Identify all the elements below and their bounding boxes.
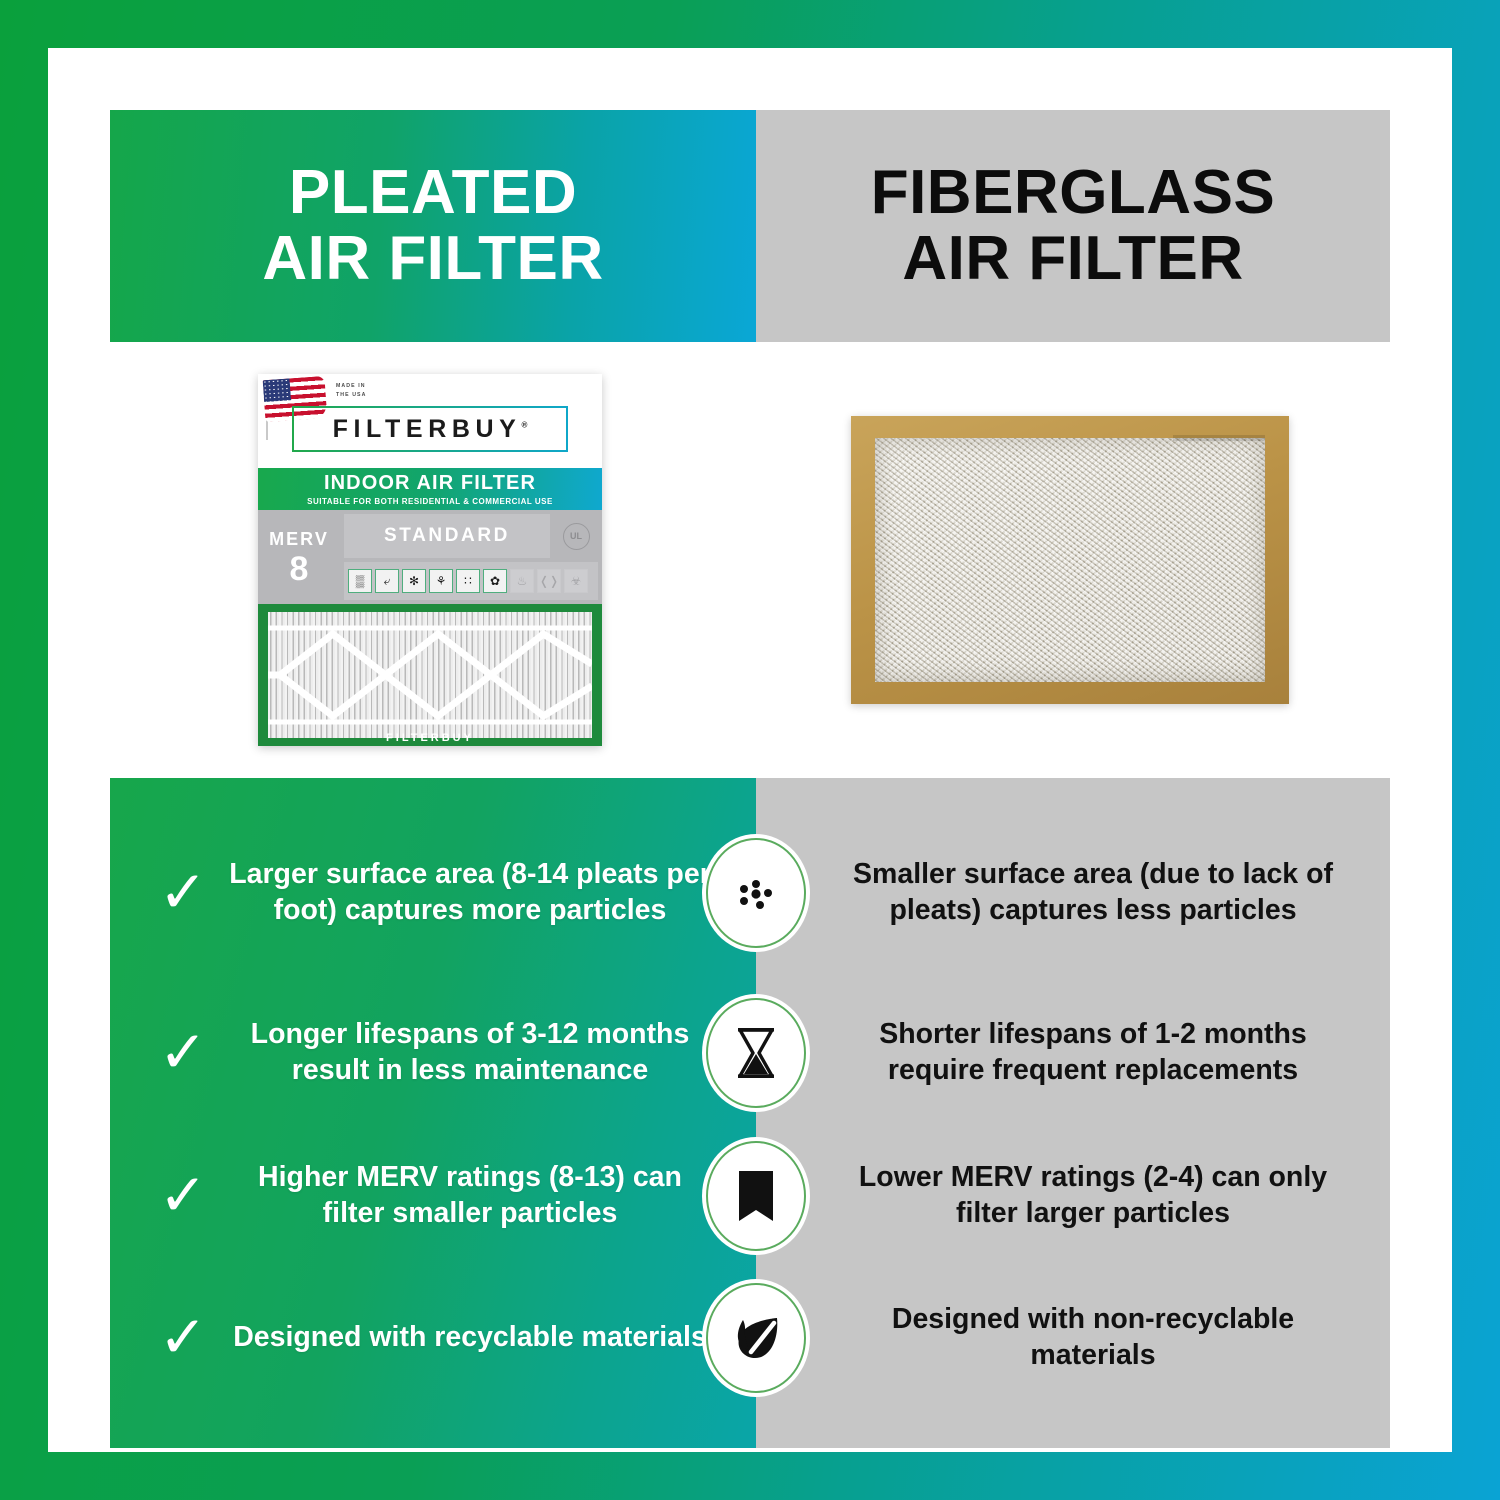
filterbuy-logo-text: FILTERBUY [333,415,522,443]
header-pleated-line1: PLEATED [289,158,577,227]
row-2-pleated: ✓ Longer lifespans of 3-12 months result… [110,1017,756,1089]
dust-mite-icon: ⤶ [375,569,399,593]
leaf-sprout-icon [706,1283,806,1393]
virus-icon: ☣ [564,569,588,593]
mold-icon: ⚘ [429,569,453,593]
particles-dots-icon [706,838,806,948]
infographic-card: PLEATED AIR FILTER FIBERGLASS AIR FILTER… [48,48,1452,1452]
band-title: INDOOR AIR FILTER [324,472,536,495]
header-fiberglass-line2: AIR FILTER [902,224,1243,293]
lint-icon: ▒ [348,569,372,593]
fiberglass-filter-image [851,416,1289,704]
band-subtitle: SUITABLE FOR BOTH RESIDENTIAL & COMMERCI… [307,497,553,506]
wire-support-grid [268,612,592,738]
fiberglass-media [875,438,1265,682]
check-icon: ✓ [148,1309,218,1367]
filterbuy-box-image: MADE INTHE USA FILTERBUY® INDOOR AIR FIL… [258,374,602,746]
row-2-fiberglass-text: Shorter lifespans of 1-2 months require … [836,1017,1350,1089]
row-1-pleated: ✓ Larger surface area (8-14 pleats per f… [110,857,756,929]
merv-value: 8 [290,552,309,586]
merv-label: MERV [269,529,329,550]
ul-mark-text: UL [563,523,590,550]
check-icon: ✓ [148,1024,218,1082]
row-4-pleated: ✓ Designed with recyclable materials [110,1309,756,1367]
header-pleated: PLEATED AIR FILTER [110,110,756,342]
fiberglass-product-cell [750,342,1390,778]
header-fiberglass-line1: FIBERGLASS [871,158,1276,227]
row-3-pleated: ✓ Higher MERV ratings (8-13) can filter … [110,1160,756,1232]
pleated-media-graphic: FILTERBUY [258,604,602,746]
indoor-air-filter-band: INDOOR AIR FILTER SUITABLE FOR BOTH RESI… [258,468,602,510]
filterbuy-logo: FILTERBUY® [292,406,568,452]
grade-label: STANDARD [344,514,550,558]
row-1-fiberglass: Smaller surface area (due to lack of ple… [756,857,1390,929]
capability-icon-row: ▒ ⤶ ✻ ⚘ ∷ ✿ ♨ ❬❭ ☣ [344,562,598,600]
pleated-product-cell: MADE INTHE USA FILTERBUY® INDOOR AIR FIL… [110,342,750,778]
pleat-texture [268,612,592,738]
pollen-icon: ✻ [402,569,426,593]
row-3-pleated-text: Higher MERV ratings (8-13) can filter sm… [228,1160,712,1232]
registered-mark: ® [521,420,527,429]
product-images-row: MADE INTHE USA FILTERBUY® INDOOR AIR FIL… [110,342,1390,778]
made-in-usa-label: MADE INTHE USA [336,382,366,401]
header-fiberglass-title: FIBERGLASS AIR FILTER [871,160,1276,291]
bookmark-icon [706,1141,806,1251]
row-1-fiberglass-text: Smaller surface area (due to lack of ple… [836,857,1350,929]
row-2-fiberglass: Shorter lifespans of 1-2 months require … [756,1017,1390,1089]
dust-icon: ∷ [456,569,480,593]
merv-badge: MERV 8 [258,510,340,604]
frame-seam [1173,435,1265,441]
smoke-icon: ♨ [510,569,534,593]
row-4-pleated-text: Designed with recyclable materials [228,1320,712,1356]
header-band: PLEATED AIR FILTER FIBERGLASS AIR FILTER [110,110,1390,342]
pet-dander-icon: ✿ [483,569,507,593]
row-4-fiberglass: Designed with non-recyclable materials [756,1302,1390,1374]
header-fiberglass: FIBERGLASS AIR FILTER [756,110,1390,342]
check-icon: ✓ [148,864,218,922]
row-4-fiberglass-text: Designed with non-recyclable materials [836,1302,1350,1374]
row-3-fiberglass: Lower MERV ratings (2-4) can only filter… [756,1160,1390,1232]
box-footer-brand: FILTERBUY [258,732,602,744]
row-1-pleated-text: Larger surface area (8-14 pleats per foo… [228,857,712,929]
row-3-fiberglass-text: Lower MERV ratings (2-4) can only filter… [836,1160,1350,1232]
ul-certification-icon: UL [554,514,598,558]
hourglass-icon [706,998,806,1108]
check-icon: ✓ [148,1167,218,1225]
header-pleated-line2: AIR FILTER [262,224,603,293]
bacteria-icon: ❬❭ [537,569,561,593]
header-pleated-title: PLEATED AIR FILTER [262,160,603,291]
comparison-section: ✓ Larger surface area (8-14 pleats per f… [110,778,1390,1448]
row-2-pleated-text: Longer lifespans of 3-12 months result i… [228,1017,712,1089]
